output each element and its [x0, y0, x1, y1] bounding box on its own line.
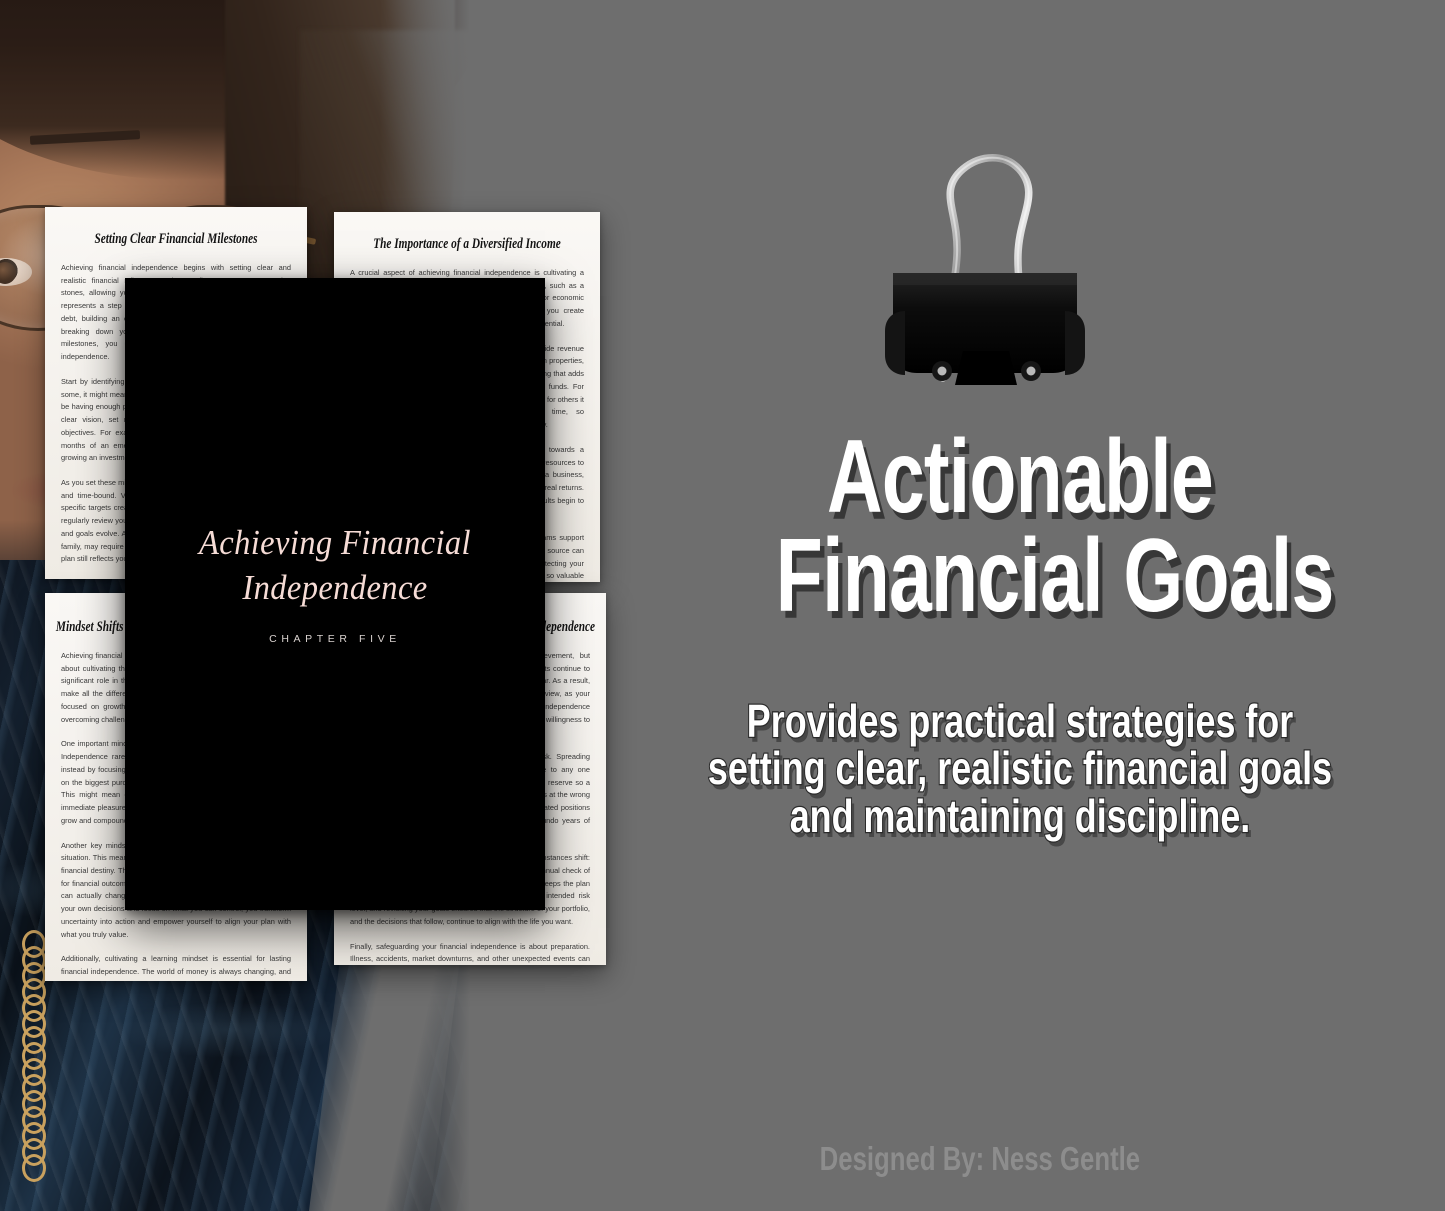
book-cover[interactable]: Achieving Financial Independence CHAPTER… [125, 278, 545, 910]
photo-gold-chain [22, 930, 38, 1200]
book-cover-title-line1: Achieving Financial [199, 523, 471, 562]
page-title: The Importance of a Diversified Income [363, 236, 570, 253]
book-cover-title-line2: Independence [242, 568, 427, 607]
designer-credit: Designed By: Ness Gentle [416, 1140, 1445, 1178]
book-cover-title: Achieving Financial Independence [140, 521, 531, 611]
headline-line-2: Financial Goals [776, 527, 1264, 626]
promo-subtitle: Provides practical strategies for settin… [692, 698, 1347, 840]
page-title: Setting Clear Financial Milestones [74, 231, 278, 248]
promo-canvas: Setting Clear Financial Milestones Achie… [0, 0, 1445, 1211]
binder-clip-icon [885, 145, 1085, 395]
book-cover-chapter-label: CHAPTER FIVE [125, 633, 545, 645]
promo-headline: Actionable Financial Goals [776, 428, 1264, 626]
